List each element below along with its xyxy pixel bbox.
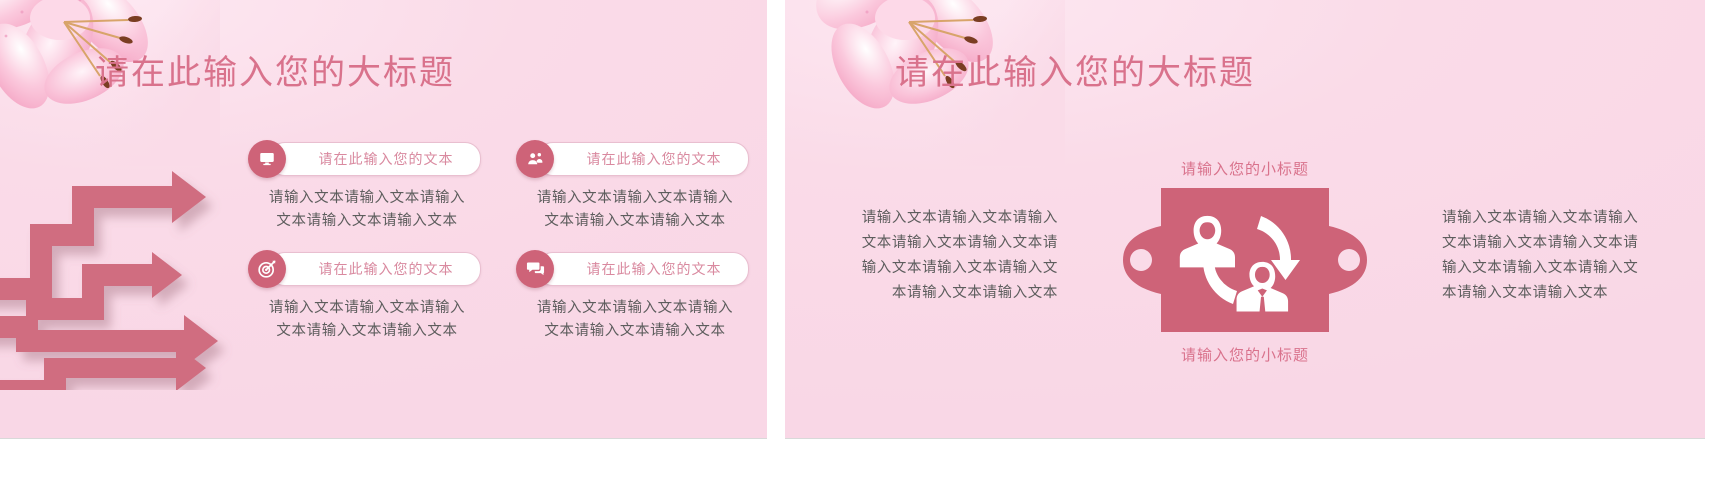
- right-paragraph: 请输入文本请输入文本请输入 文本请输入文本请输入文本请 输入文本请输入文本请输入…: [1442, 206, 1657, 306]
- text-pill[interactable]: 请在此输入您的文本: [269, 142, 481, 176]
- text-pill[interactable]: 请在此输入您的文本: [537, 142, 749, 176]
- page-title: 请在此输入您的大标题: [95, 45, 455, 94]
- slide-left: 请在此输入您的大标题: [0, 0, 767, 464]
- body-text: 请输入文本请输入文本请输入 文本请输入文本请输入文本: [248, 297, 486, 344]
- subtitle-top: 请输入您的小标题: [1181, 158, 1309, 179]
- body-line: 文本请输入文本请输入文本: [276, 213, 457, 229]
- paragraph-line: 本请输入文本请输入文本: [843, 281, 1058, 306]
- slide-bottom-edge: [0, 438, 767, 464]
- body-line: 文本请输入文本请输入文本: [276, 323, 457, 339]
- subtitle-bottom: 请输入您的小标题: [1181, 344, 1309, 365]
- paragraph-line: 输入文本请输入文本请输入文: [843, 256, 1058, 281]
- body-line: 请输入文本请输入文本请输入: [269, 190, 465, 206]
- presentation-slides-pair: 请在此输入您的大标题: [0, 0, 1720, 490]
- grid-cell: 请在此输入您的文本 请输入文本请输入文本请输入 文本请输入文本请输入文本: [516, 140, 754, 234]
- pill-row[interactable]: 请在此输入您的文本: [516, 140, 754, 178]
- people-exchange-tag-icon: [1115, 186, 1375, 334]
- body-line: 请输入文本请输入文本请输入: [269, 300, 465, 316]
- paragraph-line: 文本请输入文本请输入文本请: [843, 231, 1058, 256]
- body-line: 文本请输入文本请输入文本: [544, 213, 725, 229]
- left-paragraph: 请输入文本请输入文本请输入 文本请输入文本请输入文本请 输入文本请输入文本请输入…: [843, 206, 1058, 306]
- slide-gutter: [767, 0, 785, 490]
- pill-row[interactable]: 请在此输入您的文本: [248, 140, 486, 178]
- chat-bubble-icon: [516, 250, 554, 288]
- paragraph-line: 文本请输入文本请输入文本请: [1442, 231, 1657, 256]
- body-line: 请输入文本请输入文本请输入: [537, 190, 733, 206]
- grid-cell: 请在此输入您的文本 请输入文本请输入文本请输入 文本请输入文本请输入文本: [516, 250, 754, 344]
- people-group-icon: [516, 140, 554, 178]
- paragraph-line: 输入文本请输入文本请输入文: [1442, 256, 1657, 281]
- body-line: 请输入文本请输入文本请输入: [537, 300, 733, 316]
- monitor-icon: [248, 140, 286, 178]
- body-line: 文本请输入文本请输入文本: [544, 323, 725, 339]
- grid-cell: 请在此输入您的文本 请输入文本请输入文本请输入 文本请输入文本请输入文本: [248, 140, 486, 234]
- text-pill[interactable]: 请在此输入您的文本: [537, 252, 749, 286]
- stepped-arrows-icon: [0, 160, 246, 390]
- tag-hole-left: [1130, 249, 1152, 271]
- pill-label: 请在此输入您的文本: [297, 149, 454, 169]
- pill-label: 请在此输入您的文本: [565, 259, 722, 279]
- paragraph-line: 请输入文本请输入文本请输入: [1442, 206, 1657, 231]
- text-pill[interactable]: 请在此输入您的文本: [269, 252, 481, 286]
- pill-row[interactable]: 请在此输入您的文本: [248, 250, 486, 288]
- pill-row[interactable]: 请在此输入您的文本: [516, 250, 754, 288]
- target-dart-icon: [248, 250, 286, 288]
- paragraph-line: 本请输入文本请输入文本: [1442, 281, 1657, 306]
- body-text: 请输入文本请输入文本请输入 文本请输入文本请输入文本: [248, 187, 486, 234]
- body-text: 请输入文本请输入文本请输入 文本请输入文本请输入文本: [516, 297, 754, 344]
- body-text: 请输入文本请输入文本请输入 文本请输入文本请输入文本: [516, 187, 754, 234]
- paragraph-line: 请输入文本请输入文本请输入: [843, 206, 1058, 231]
- slide-right: 请在此输入您的大标题 请输入您的小标题: [785, 0, 1705, 464]
- grid-cell: 请在此输入您的文本 请输入文本请输入文本请输入 文本请输入文本请输入文本: [248, 250, 486, 344]
- pill-label: 请在此输入您的文本: [565, 149, 722, 169]
- pill-label: 请在此输入您的文本: [297, 259, 454, 279]
- page-title: 请在此输入您的大标题: [895, 45, 1255, 94]
- content-grid: 请在此输入您的文本 请输入文本请输入文本请输入 文本请输入文本请输入文本: [248, 140, 753, 344]
- slide-bottom-edge: [785, 438, 1705, 464]
- tag-hole-right: [1338, 249, 1360, 271]
